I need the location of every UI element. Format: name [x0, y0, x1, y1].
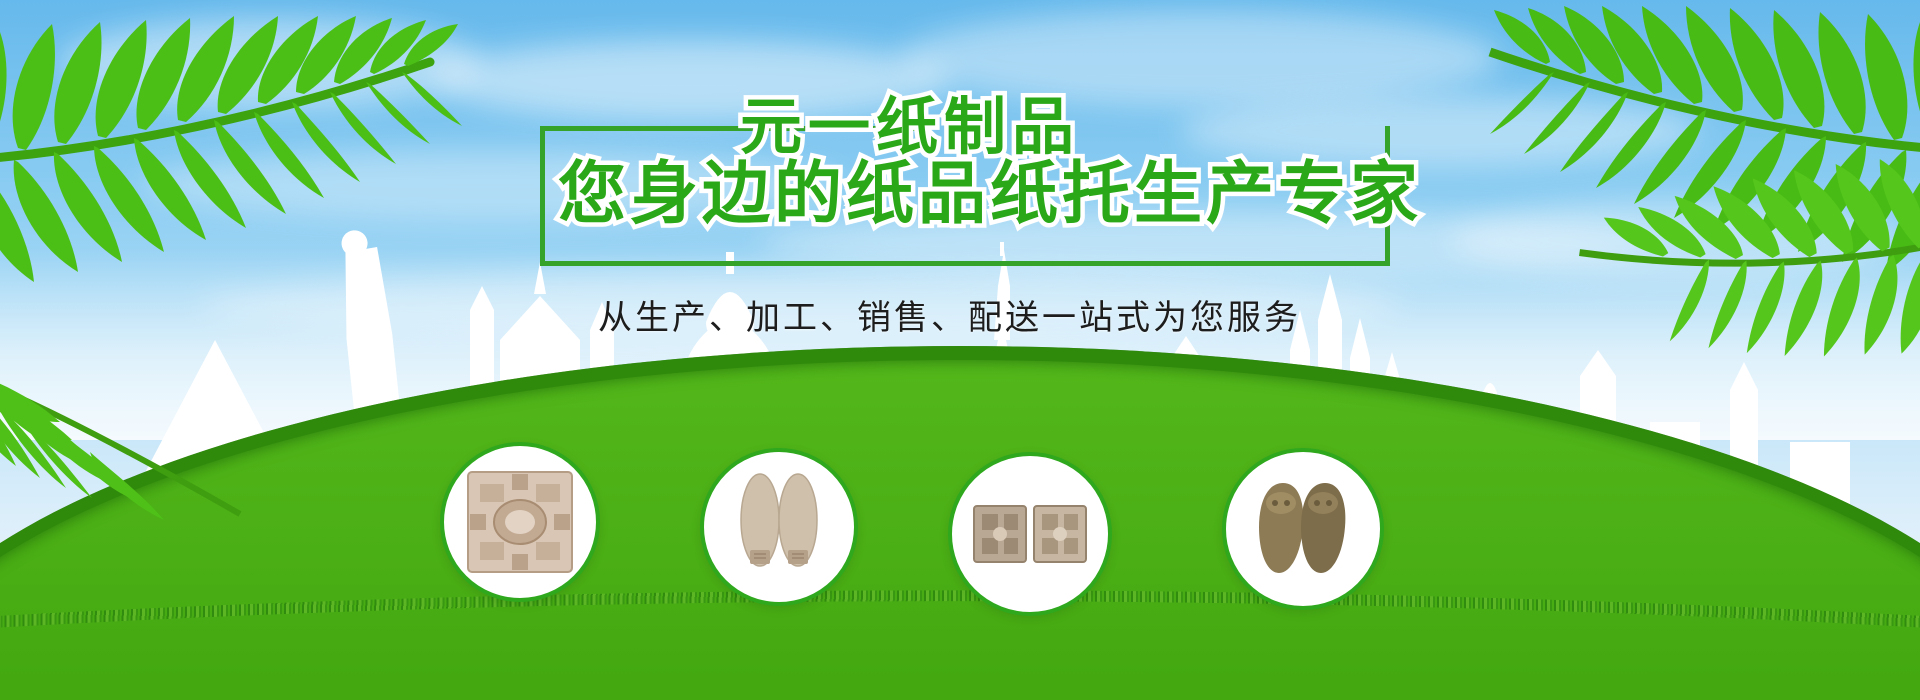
- paper-pulp-shoe-inserts-icon: [720, 468, 838, 586]
- molded-pulp-shoe-trees-icon: [1243, 469, 1363, 589]
- product-circle-row: [0, 0, 1920, 700]
- square-paper-pulp-tray-icon: [460, 462, 580, 582]
- product-circle-1[interactable]: [440, 442, 600, 602]
- product-circle-3[interactable]: [948, 452, 1112, 616]
- product-circle-2[interactable]: [700, 448, 858, 606]
- paired-pulp-packaging-trays-icon: [968, 472, 1092, 596]
- promotional-banner: 元一纸制品 您身边的纸品纸托生产专家 从生产、加工、销售、配送一站式为您服务: [0, 0, 1920, 700]
- product-circle-4[interactable]: [1222, 448, 1384, 610]
